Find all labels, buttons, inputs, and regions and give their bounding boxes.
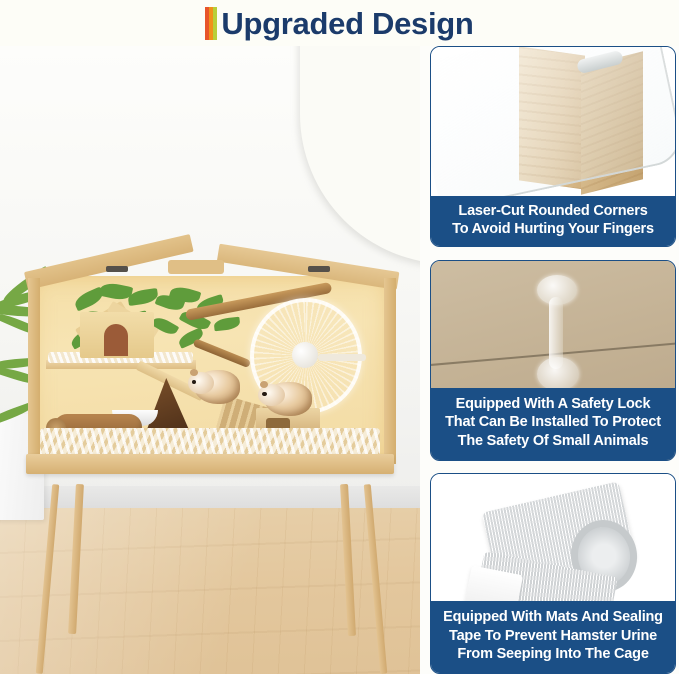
page-header: Upgraded Design <box>0 0 679 46</box>
exercise-wheel-hub <box>292 342 318 368</box>
foliage-leaf <box>213 317 240 332</box>
cage-hinge <box>308 266 330 272</box>
caption-line: Laser-Cut Rounded Corners <box>435 202 671 221</box>
caption-line: Equipped With Mats And Sealing <box>435 608 671 627</box>
hamster-cage <box>18 242 406 492</box>
hamster-ear <box>190 369 198 376</box>
hamster-head <box>258 384 285 406</box>
hamster-eye <box>262 392 266 396</box>
hamster <box>194 370 240 404</box>
hamster-ear <box>260 381 268 388</box>
safety-lock-latch <box>533 275 579 395</box>
feature-panel-laser-cut-corners: Laser-Cut Rounded Corners To Avoid Hurti… <box>430 46 676 247</box>
foliage-leaf <box>169 284 202 306</box>
caption-line: Equipped With A Safety Lock <box>435 395 671 414</box>
panel-caption-laser-cut-corners: Laser-Cut Rounded Corners To Avoid Hurti… <box>431 196 675 246</box>
cage-post-left <box>28 278 40 464</box>
cage-hinge <box>106 266 128 272</box>
hamster-eye <box>192 380 196 384</box>
house-doorway <box>104 324 128 356</box>
cage-base-tray <box>26 454 394 474</box>
cage-post-right <box>384 278 396 464</box>
hamster-body <box>194 370 240 404</box>
lock-knob-bottom <box>537 357 579 391</box>
hero-product-photo <box>0 46 420 674</box>
cage-roof-peak <box>168 260 224 274</box>
hamster-head <box>188 372 214 394</box>
accent-bar-green <box>213 7 217 40</box>
title-wrap: Upgraded Design <box>205 5 473 41</box>
caption-line: Tape To Prevent Hamster Urine <box>435 627 671 646</box>
panel-caption-sealing-tape: Equipped With Mats And Sealing Tape To P… <box>431 601 675 673</box>
caption-line: From Seeping Into The Cage <box>435 645 671 664</box>
caption-line: That Can Be Installed To Protect <box>435 413 671 432</box>
acrylic-rounded-edge <box>430 46 676 211</box>
panel-caption-safety-lock: Equipped With A Safety Lock That Can Be … <box>431 388 675 460</box>
exercise-wheel-stand <box>318 354 366 361</box>
page-title: Upgraded Design <box>221 8 473 39</box>
accent-bars <box>205 7 217 40</box>
hamster <box>264 382 312 416</box>
caption-line: To Avoid Hurting Your Fingers <box>435 220 671 239</box>
floor-light-sheen <box>0 508 420 674</box>
feature-panel-sealing-tape: Equipped With Mats And Sealing Tape To P… <box>430 473 676 674</box>
caption-line: The Safety Of Small Animals <box>435 432 671 451</box>
feature-panels: Laser-Cut Rounded Corners To Avoid Hurti… <box>430 46 676 674</box>
feature-panel-safety-lock: Equipped With A Safety Lock That Can Be … <box>430 260 676 461</box>
hamster-body <box>264 382 312 416</box>
